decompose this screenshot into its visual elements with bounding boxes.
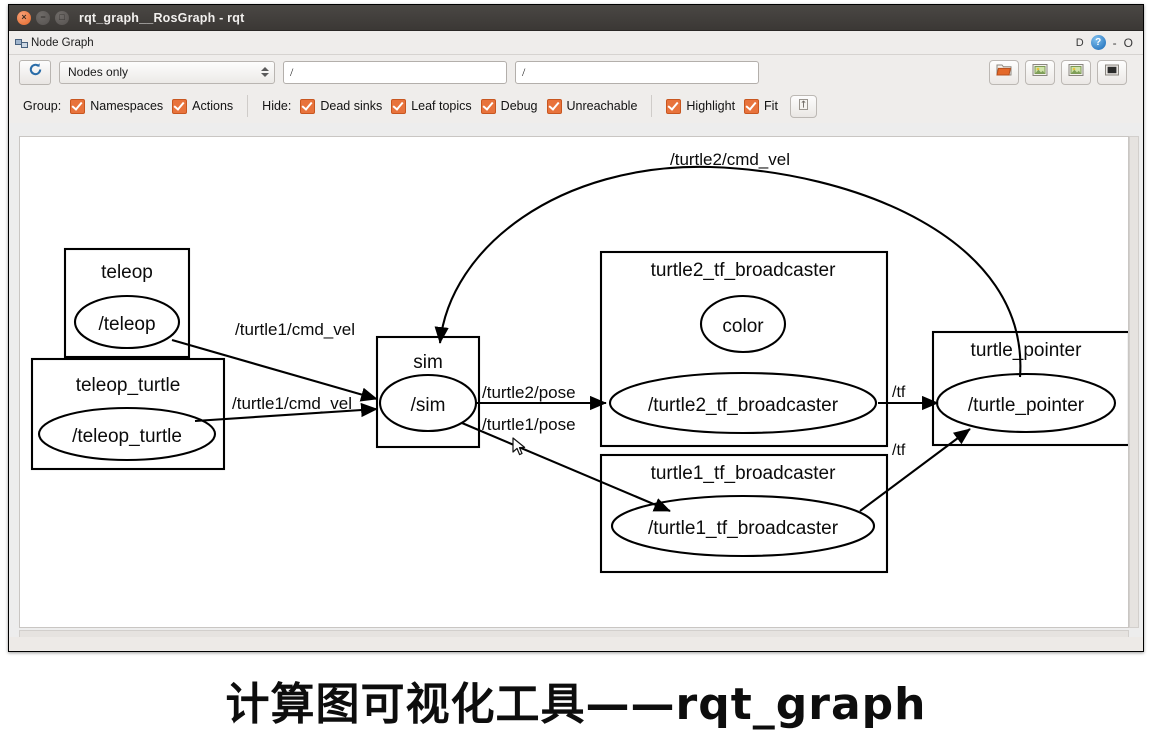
graph-group-teleop[interactable]: teleop /teleop bbox=[65, 249, 189, 357]
checkbox-unreachable-label: Unreachable bbox=[567, 99, 638, 113]
checkbox-unreachable[interactable]: Unreachable bbox=[547, 99, 638, 114]
hide-checkboxes: Dead sinks Leaf topics Debug Unreachable bbox=[300, 99, 637, 114]
checkbox-actions-label: Actions bbox=[192, 99, 233, 113]
view-checkboxes: Highlight Fit bbox=[666, 99, 778, 114]
checkbox-checked-icon bbox=[481, 99, 496, 114]
edge-label: /turtle2/cmd_vel bbox=[670, 150, 790, 169]
node-graph-panel-header: Node Graph D ? - O bbox=[9, 31, 1143, 55]
window-maximize-button[interactable]: □ bbox=[55, 11, 69, 25]
group-label: sim bbox=[413, 352, 443, 373]
graph-type-value: Nodes only bbox=[68, 65, 128, 79]
node-label: /turtle1_tf_broadcaster bbox=[648, 518, 839, 539]
panel-minimize-icon[interactable]: - bbox=[1113, 39, 1117, 47]
hide-label: Hide: bbox=[262, 99, 291, 113]
group-label: Group: bbox=[23, 99, 61, 113]
help-icon[interactable]: ? bbox=[1091, 35, 1106, 50]
graph-group-turtle-pointer[interactable]: turtle_pointer /turtle_pointer bbox=[933, 332, 1128, 445]
checkbox-actions[interactable]: Actions bbox=[172, 99, 233, 114]
topic-filter-value: / bbox=[522, 65, 525, 80]
checkbox-debug-label: Debug bbox=[501, 99, 538, 113]
edge-label: /turtle1/cmd_vel bbox=[235, 320, 355, 339]
checkbox-namespaces-label: Namespaces bbox=[90, 99, 163, 113]
fullscreen-button[interactable] bbox=[1097, 60, 1127, 85]
dock-letter-icon[interactable]: D bbox=[1076, 37, 1084, 49]
checkbox-fit-label: Fit bbox=[764, 99, 778, 113]
node-label: /sim bbox=[411, 395, 446, 416]
group-label: turtle2_tf_broadcaster bbox=[651, 260, 837, 281]
topic-filter-input[interactable]: / bbox=[515, 61, 759, 84]
checkbox-debug[interactable]: Debug bbox=[481, 99, 538, 114]
save-image-icon bbox=[1068, 63, 1084, 82]
save-dot-button[interactable] bbox=[1025, 60, 1055, 85]
graph-group-sim[interactable]: sim /sim bbox=[377, 337, 479, 447]
node-label: color bbox=[722, 316, 764, 337]
page-caption: 计算图可视化工具——rqt_graph bbox=[0, 668, 1152, 732]
rqt-window: × − □ rqt_graph__RosGraph - rqt Node Gra… bbox=[8, 4, 1144, 652]
checkbox-dead-sinks[interactable]: Dead sinks bbox=[300, 99, 382, 114]
fit-in-view-button[interactable] bbox=[790, 95, 817, 118]
graph-filter-bar: Group: Namespaces Actions Hide: Dead sin… bbox=[9, 89, 1143, 123]
folder-open-icon bbox=[996, 63, 1012, 82]
graph-canvas[interactable]: teleop /teleop teleop_turtle /teleop_tur… bbox=[19, 136, 1129, 628]
panel-header-controls: D ? - O bbox=[1076, 35, 1137, 50]
divider bbox=[247, 95, 248, 117]
checkbox-dead-sinks-label: Dead sinks bbox=[320, 99, 382, 113]
window-minimize-button[interactable]: − bbox=[36, 11, 50, 25]
mouse-cursor-icon bbox=[512, 437, 528, 457]
toolbar-actions bbox=[989, 60, 1133, 85]
node-filter-input[interactable]: / bbox=[283, 61, 507, 84]
checkbox-highlight-label: Highlight bbox=[686, 99, 735, 113]
node-label: /teleop bbox=[98, 314, 155, 335]
minimize-icon: − bbox=[36, 11, 50, 25]
checkbox-checked-icon bbox=[744, 99, 759, 114]
screen-icon bbox=[1104, 63, 1120, 82]
node-graph-icon bbox=[15, 36, 28, 49]
vertical-scrollbar[interactable] bbox=[1129, 136, 1139, 628]
edge-label: /tf bbox=[892, 442, 906, 459]
group-checkboxes: Namespaces Actions bbox=[70, 99, 233, 114]
edge-label: /turtle2/pose bbox=[482, 383, 576, 402]
divider bbox=[651, 95, 652, 117]
checkbox-namespaces[interactable]: Namespaces bbox=[70, 99, 163, 114]
ros-node-graph: teleop /teleop teleop_turtle /teleop_tur… bbox=[20, 137, 1128, 627]
group-label: turtle_pointer bbox=[971, 340, 1083, 361]
checkbox-checked-icon bbox=[666, 99, 681, 114]
group-label: teleop bbox=[101, 262, 153, 283]
graph-group-teleop-turtle[interactable]: teleop_turtle /teleop_turtle bbox=[32, 359, 224, 469]
save-image-button[interactable] bbox=[1061, 60, 1091, 85]
load-dot-button[interactable] bbox=[989, 60, 1019, 85]
fit-icon bbox=[797, 98, 810, 114]
node-label: /turtle_pointer bbox=[968, 395, 1085, 416]
panel-close-icon[interactable]: O bbox=[1124, 36, 1133, 50]
group-label: turtle1_tf_broadcaster bbox=[651, 463, 837, 484]
status-bar bbox=[9, 637, 1143, 651]
edge-label: /turtle1/cmd_vel bbox=[232, 394, 352, 413]
window-titlebar: × − □ rqt_graph__RosGraph - rqt bbox=[9, 5, 1143, 31]
refresh-button[interactable] bbox=[19, 60, 51, 85]
checkbox-leaf-topics[interactable]: Leaf topics bbox=[391, 99, 471, 114]
graph-group-turtle1-tf-broadcaster[interactable]: turtle1_tf_broadcaster /turtle1_tf_broad… bbox=[601, 455, 887, 572]
checkbox-checked-icon bbox=[547, 99, 562, 114]
refresh-icon bbox=[28, 62, 43, 82]
checkbox-fit[interactable]: Fit bbox=[744, 99, 778, 114]
checkbox-highlight[interactable]: Highlight bbox=[666, 99, 735, 114]
checkbox-checked-icon bbox=[300, 99, 315, 114]
maximize-icon: □ bbox=[55, 11, 69, 25]
node-label: /teleop_turtle bbox=[72, 426, 182, 447]
edge-label: /tf bbox=[892, 384, 906, 401]
spinner-arrows-icon bbox=[261, 67, 269, 77]
node-label: /turtle2_tf_broadcaster bbox=[648, 395, 839, 416]
node-graph-panel-title: Node Graph bbox=[31, 37, 94, 49]
window-title: rqt_graph__RosGraph - rqt bbox=[79, 11, 244, 25]
graph-toolbar: Nodes only / / bbox=[9, 55, 1143, 89]
graph-type-select[interactable]: Nodes only bbox=[59, 61, 275, 84]
graph-group-turtle2-tf-broadcaster[interactable]: turtle2_tf_broadcaster color /turtle2_tf… bbox=[601, 252, 887, 446]
checkbox-checked-icon bbox=[70, 99, 85, 114]
checkbox-checked-icon bbox=[391, 99, 406, 114]
window-close-button[interactable]: × bbox=[17, 11, 31, 25]
window-controls: × − □ bbox=[17, 11, 69, 25]
node-filter-value: / bbox=[290, 65, 293, 80]
checkbox-leaf-topics-label: Leaf topics bbox=[411, 99, 471, 113]
save-image-icon bbox=[1032, 63, 1048, 82]
edge-label: /turtle1/pose bbox=[482, 415, 576, 434]
checkbox-checked-icon bbox=[172, 99, 187, 114]
group-label: teleop_turtle bbox=[76, 375, 181, 396]
close-icon: × bbox=[17, 11, 31, 25]
